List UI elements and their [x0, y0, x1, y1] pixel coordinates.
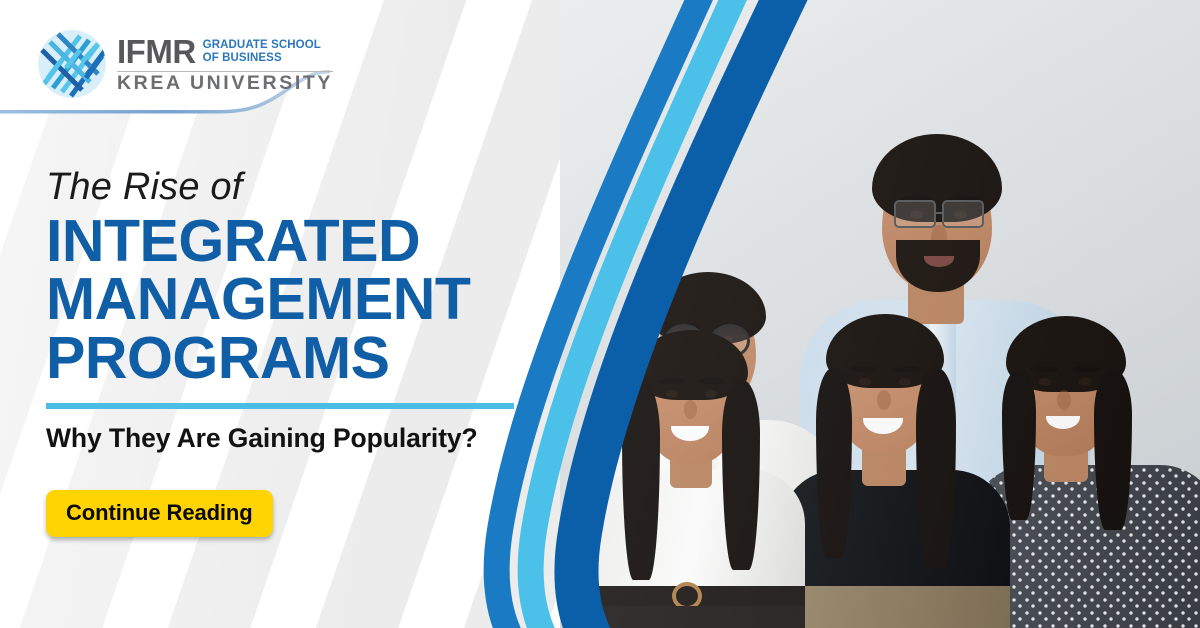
- headline-block: The Rise of INTEGRATED MANAGEMENT PROGRA…: [46, 168, 526, 537]
- promo-banner: IFMR GRADUATE SCHOOL OF BUSINESS KREA UN…: [0, 0, 1200, 628]
- woven-k-icon: [36, 28, 108, 100]
- brand-school-line2: OF BUSINESS: [203, 52, 282, 64]
- headline-line-1: INTEGRATED: [46, 212, 526, 270]
- headline-line-3: PROGRAMS: [46, 329, 526, 387]
- continue-reading-button[interactable]: Continue Reading: [46, 490, 273, 537]
- eyebrow-text: The Rise of: [46, 168, 526, 208]
- brand-wordmark: IFMR GRADUATE SCHOOL OF BUSINESS KREA UN…: [117, 35, 333, 94]
- brand-university: KREA UNIVERSITY: [117, 74, 333, 94]
- subhead-text: Why They Are Gaining Popularity?: [46, 423, 526, 454]
- headline-text: INTEGRATED MANAGEMENT PROGRAMS: [46, 212, 526, 387]
- brand-school-line1: GRADUATE SCHOOL: [203, 39, 321, 51]
- brand-name: IFMR: [117, 35, 196, 68]
- brand-logo[interactable]: IFMR GRADUATE SCHOOL OF BUSINESS KREA UN…: [36, 28, 333, 100]
- headline-underline: [46, 403, 514, 409]
- headline-line-2: MANAGEMENT: [46, 270, 526, 328]
- brand-school: GRADUATE SCHOOL OF BUSINESS: [203, 35, 321, 65]
